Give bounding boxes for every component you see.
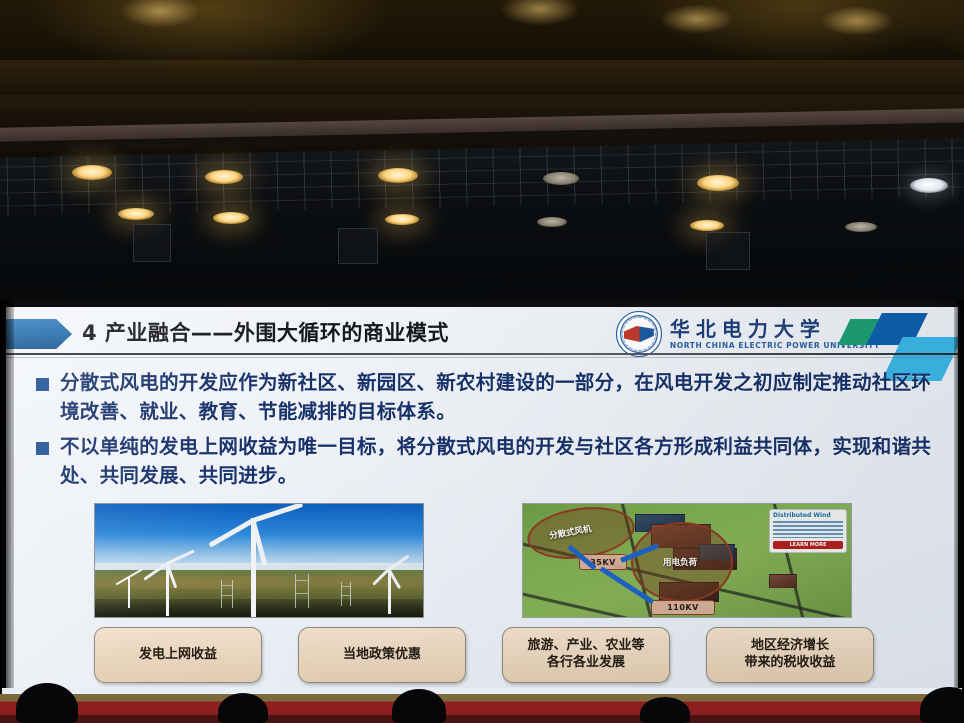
benefit-box-3[interactable]: 旅游、产业、农业等各行各业发展 (502, 627, 670, 683)
bullet-list: 分散式风电的开发应作为新社区、新园区、新农村建设的一部分，在风电开发之初应制定推… (36, 369, 934, 496)
ceiling-downlight (537, 217, 567, 227)
benefit-boxes: 发电上网收益 当地政策优惠 旅游、产业、农业等各行各业发展 地区经济增长带来的税… (94, 627, 874, 685)
ceiling-downlight (690, 220, 724, 231)
ceiling-downlight (910, 178, 948, 193)
diagram-card-title: Distributed Wind (773, 513, 843, 519)
ceiling-downlight (213, 212, 249, 224)
ceiling-vent (338, 228, 378, 264)
title-divider (6, 353, 958, 355)
bullet-text: 分散式风电的开发应作为新社区、新园区、新农村建设的一部分，在风电开发之初应制定推… (60, 369, 934, 427)
ceiling-downlight (543, 172, 579, 185)
transmission-pylon (295, 574, 309, 608)
right-edge-shadow (954, 300, 964, 723)
ceiling-downlight (378, 168, 418, 183)
bullet-square-icon (36, 442, 49, 455)
ceiling-downlight (205, 170, 243, 184)
ceiling-downlight (385, 214, 419, 225)
diagram-building (769, 574, 797, 588)
ceiling-downlight (72, 165, 112, 180)
wind-turbine-mid (157, 552, 203, 614)
transmission-pylon (221, 580, 233, 608)
turbine-blade (129, 568, 144, 578)
turbine-mast (128, 576, 130, 608)
diagram-label-load: 用电负荷 (663, 556, 697, 568)
arrow-tab-icon (6, 319, 72, 349)
benefit-box-4[interactable]: 地区经济增长带来的税收收益 (706, 627, 874, 683)
left-edge-shadow (0, 300, 14, 723)
diagram-card-body (773, 521, 843, 538)
audience-row (0, 694, 964, 723)
auditorium-scene: 4 产业融合——外围大循环的商业模式 华北电力大学 NORTH CHINA EL… (0, 0, 964, 723)
wind-turbine-mid (381, 560, 417, 612)
diagram-card-button: LEARN MORE (773, 541, 843, 549)
ceiling-downlight (845, 222, 877, 232)
university-seal-icon (616, 311, 662, 357)
ceiling-vent (706, 232, 750, 270)
benefit-box-2[interactable]: 当地政策优惠 (298, 627, 466, 683)
university-logo: 华北电力大学 NORTH CHINA ELECTRIC POWER UNIVER… (616, 311, 880, 357)
audience-head (218, 693, 268, 723)
wall-spot-light (660, 4, 734, 34)
diagram-chip-110kv: 110KV (651, 600, 715, 615)
audience-head (392, 689, 446, 723)
page-title: 4 产业融合——外围大循环的商业模式 (82, 317, 449, 347)
wind-turbine-far (123, 570, 147, 608)
diagram-info-card: Distributed Wind LEARN MORE (769, 509, 847, 553)
wall-spot-light (820, 6, 894, 36)
distributed-wind-diagram: 分散式风机 用电负荷 35KV 110KV Distributed Wind L… (522, 503, 852, 618)
list-item: 不以单纯的发电上网收益为唯一目标，将分散式风电的开发与社区各方形成利益共同体，实… (36, 433, 934, 491)
turbine-blade (166, 549, 194, 564)
transmission-pylon (341, 582, 351, 606)
ceiling-downlight (118, 208, 154, 220)
presentation-slide: 4 产业融合——外围大循环的商业模式 华北电力大学 NORTH CHINA EL… (6, 307, 958, 693)
list-item: 分散式风电的开发应作为新社区、新园区、新农村建设的一部分，在风电开发之初应制定推… (36, 369, 934, 427)
ceiling-vent (133, 224, 171, 262)
benefit-box-1[interactable]: 发电上网收益 (94, 627, 262, 683)
ceiling-downlight (697, 175, 739, 191)
bullet-text: 不以单纯的发电上网收益为唯一目标，将分散式风电的开发与社区各方形成利益共同体，实… (60, 433, 934, 491)
turbine-blade (252, 503, 303, 523)
audience-head (640, 697, 690, 723)
bullet-square-icon (36, 378, 49, 391)
wind-farm-photo (94, 503, 424, 618)
title-divider-thin (6, 357, 958, 358)
